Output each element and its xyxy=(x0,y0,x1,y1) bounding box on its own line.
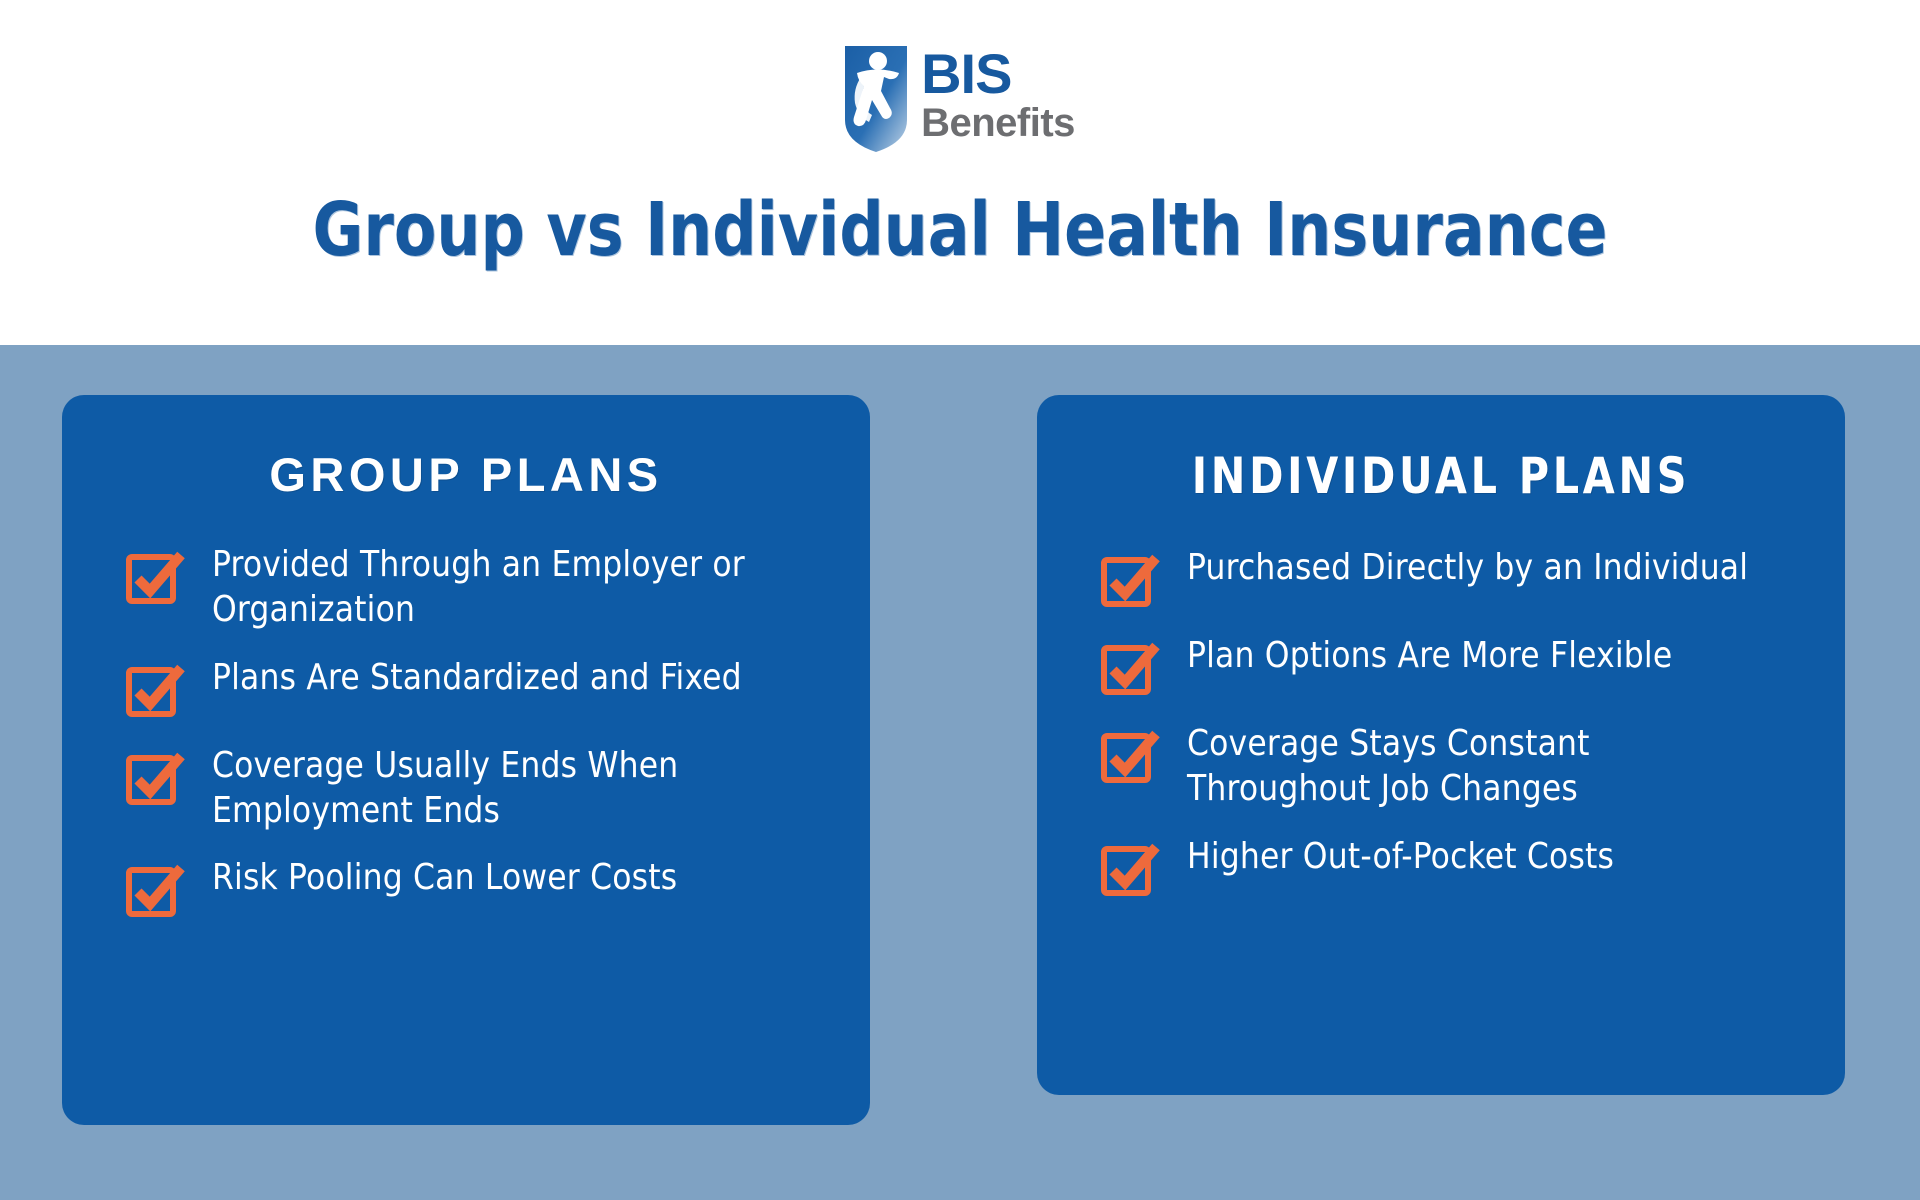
checkbox-checked-icon xyxy=(1099,637,1161,699)
brand-logo: BIS Benefits xyxy=(0,46,1920,152)
list-item: Provided Through an Employer or Organiza… xyxy=(62,542,870,633)
content-band: GROUP PLANS Provided Through an Employer… xyxy=(0,345,1920,1200)
list-item: Risk Pooling Can Lower Costs xyxy=(62,855,870,921)
header-band: BIS Benefits Group vs Individual Health … xyxy=(0,0,1920,345)
list-item: Purchased Directly by an Individual xyxy=(1037,545,1845,611)
list-item-label: Coverage Stays Constant Throughout Job C… xyxy=(1187,721,1750,812)
bis-figure-shield-icon xyxy=(845,46,907,152)
card-heading-individual-plans: INDIVIDUAL PLANS xyxy=(1069,447,1812,505)
checkbox-checked-icon xyxy=(1099,725,1161,787)
checkbox-checked-icon xyxy=(1099,838,1161,900)
brand-name-secondary: Benefits xyxy=(921,102,1075,144)
list-item-label: Higher Out-of-Pocket Costs xyxy=(1187,834,1614,879)
list-item-label: Purchased Directly by an Individual xyxy=(1187,545,1748,590)
card-heading-group-plans: GROUP PLANS xyxy=(62,447,870,502)
brand-wordmark: BIS Benefits xyxy=(921,46,1075,144)
list-item: Plan Options Are More Flexible xyxy=(1037,633,1845,699)
checkbox-checked-icon xyxy=(124,546,186,608)
list-item-label: Coverage Usually Ends When Employment En… xyxy=(212,743,755,834)
card-group-plans: GROUP PLANS Provided Through an Employer… xyxy=(62,395,870,1125)
checkbox-checked-icon xyxy=(124,659,186,721)
list-item: Plans Are Standardized and Fixed xyxy=(62,655,870,721)
list-item: Coverage Usually Ends When Employment En… xyxy=(62,743,870,834)
checkbox-checked-icon xyxy=(124,859,186,921)
list-item-label: Provided Through an Employer or Organiza… xyxy=(212,542,755,633)
list-item: Coverage Stays Constant Throughout Job C… xyxy=(1037,721,1845,812)
feature-list-individual-plans: Purchased Directly by an Individual Plan… xyxy=(1037,545,1845,900)
list-item-label: Risk Pooling Can Lower Costs xyxy=(212,855,677,900)
brand-name-primary: BIS xyxy=(921,48,1075,100)
page-title: Group vs Individual Health Insurance xyxy=(67,192,1853,269)
list-item-label: Plan Options Are More Flexible xyxy=(1187,633,1672,678)
list-item-label: Plans Are Standardized and Fixed xyxy=(212,655,742,700)
checkbox-checked-icon xyxy=(1099,549,1161,611)
list-item: Higher Out-of-Pocket Costs xyxy=(1037,834,1845,900)
checkbox-checked-icon xyxy=(124,747,186,809)
feature-list-group-plans: Provided Through an Employer or Organiza… xyxy=(62,542,870,921)
card-individual-plans: INDIVIDUAL PLANS Purchased Directly by a… xyxy=(1037,395,1845,1095)
